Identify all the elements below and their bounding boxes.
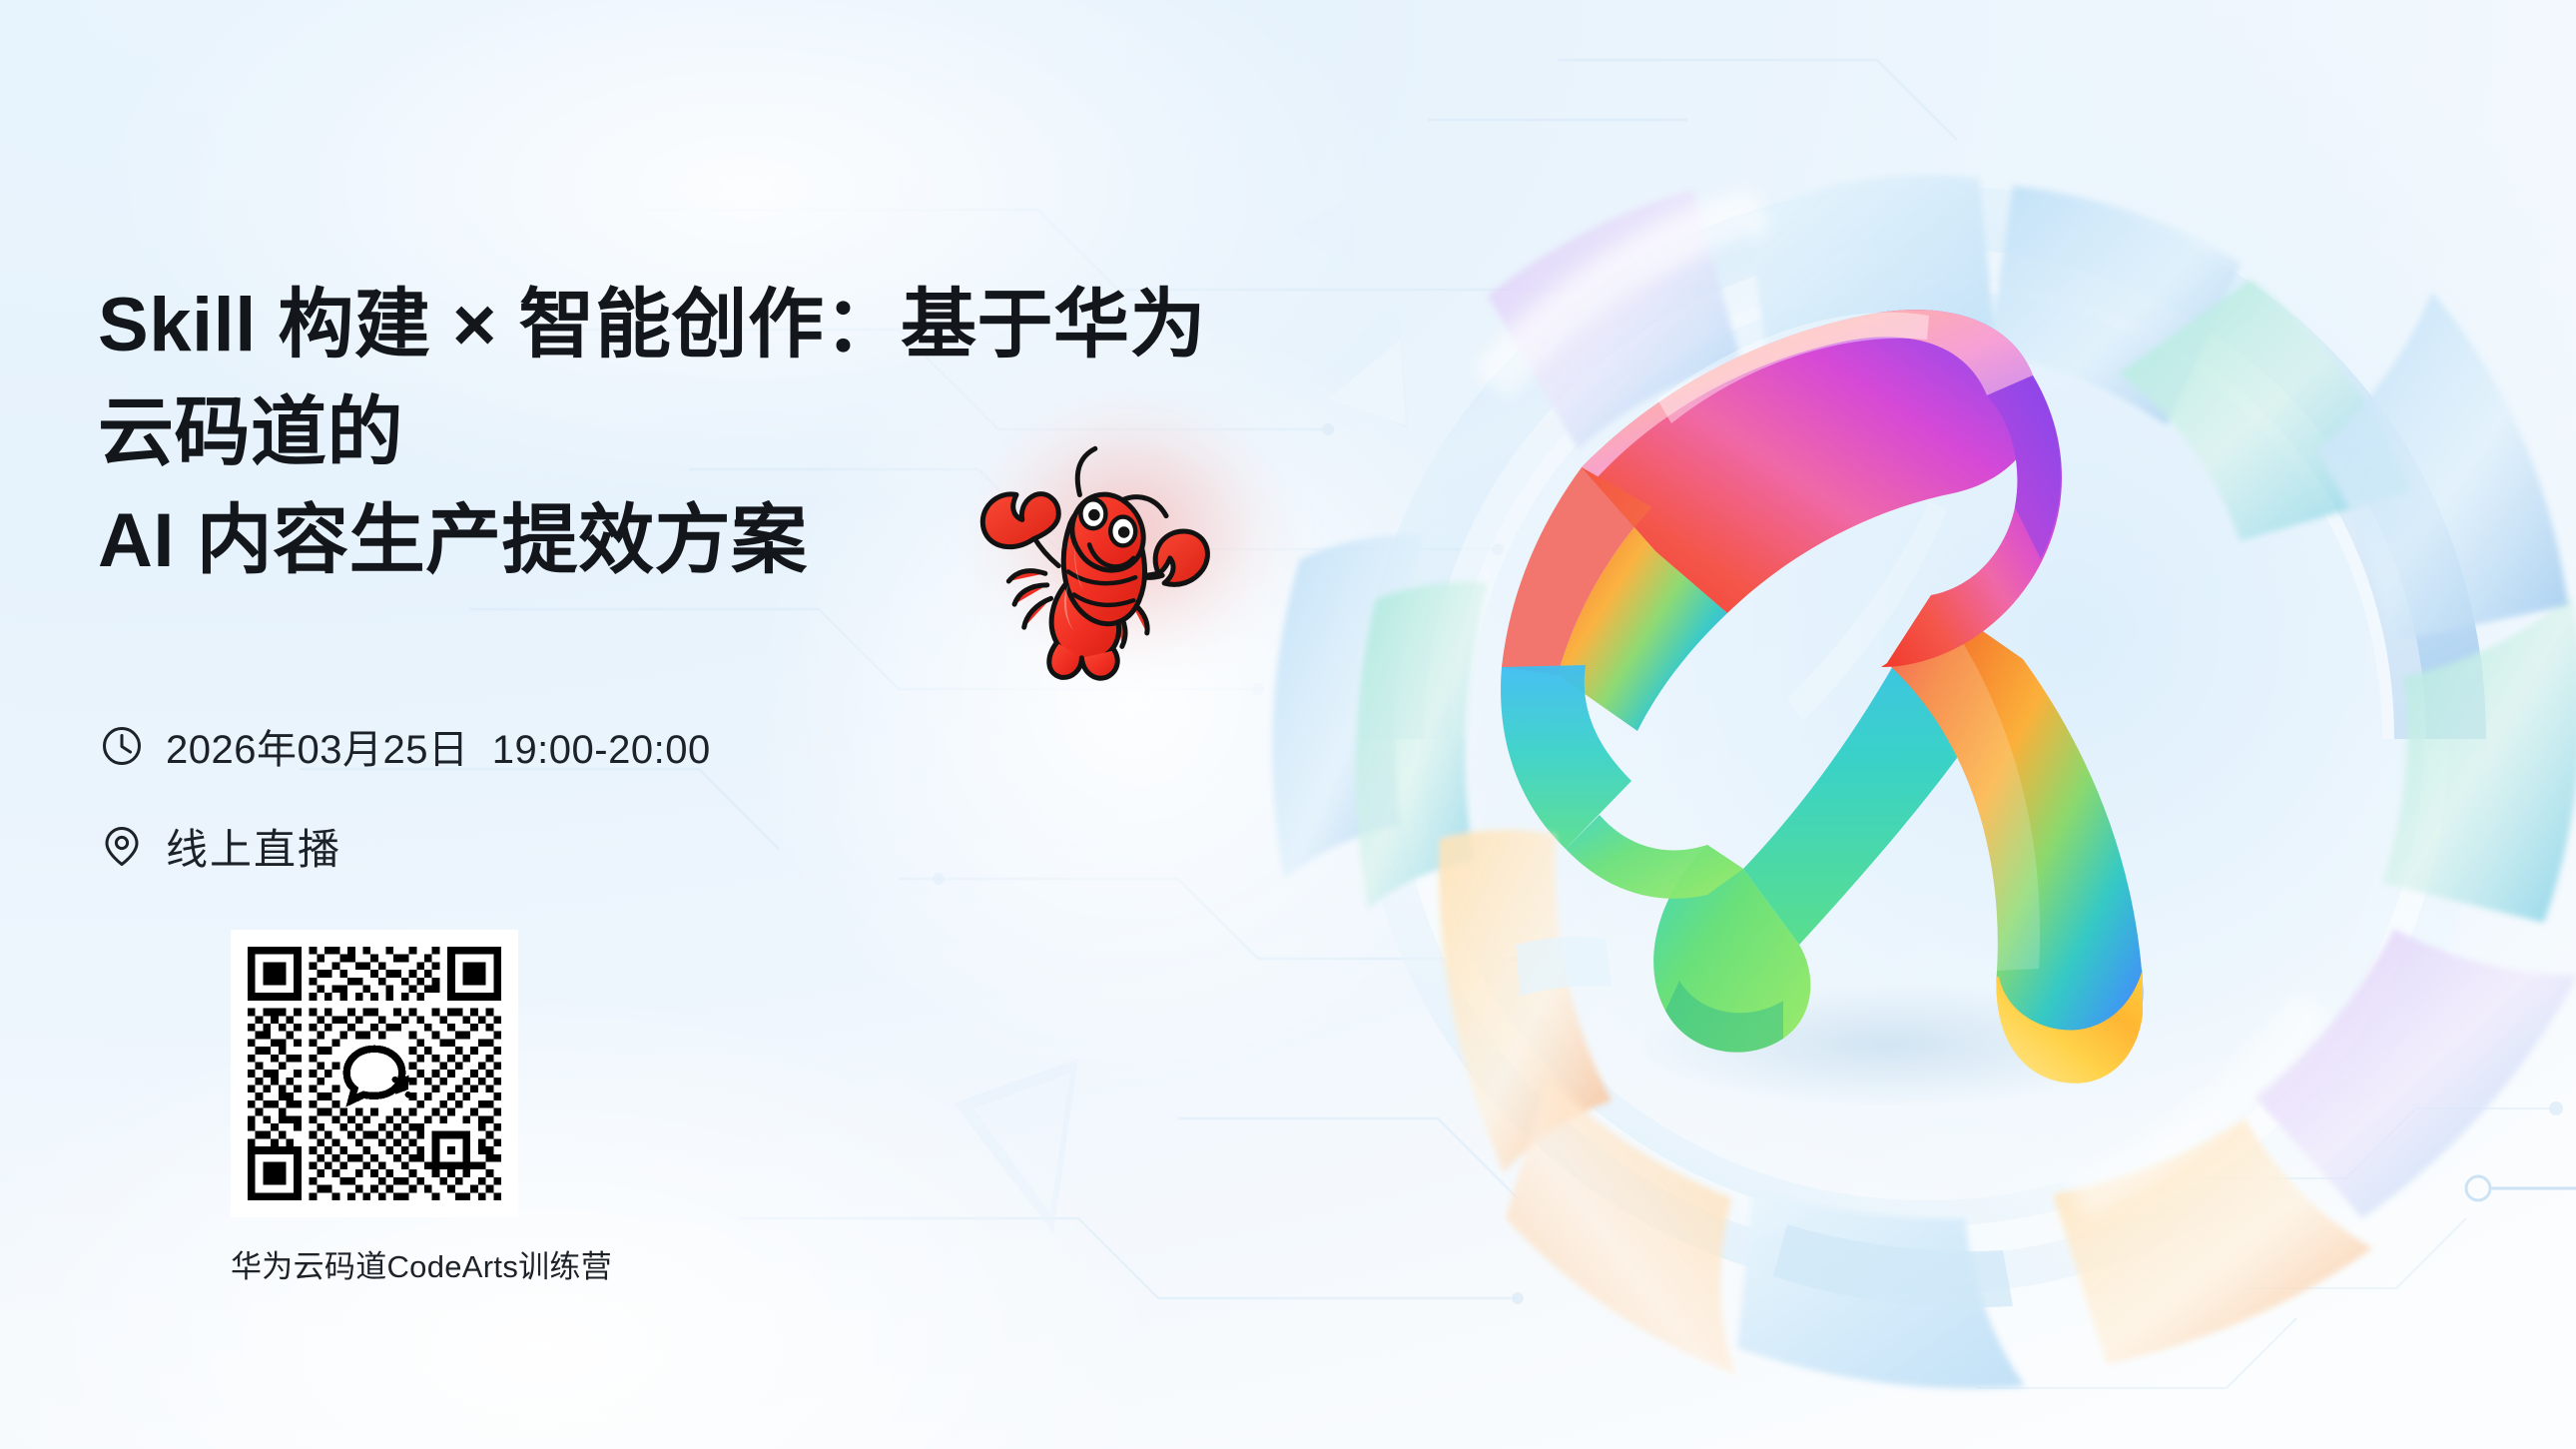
event-meta: 2026年03月25日 19:00-20:00 线上直播 <box>100 713 711 879</box>
event-datetime-label: 2026年03月25日 19:00-20:00 <box>166 717 711 775</box>
clock-icon <box>100 724 144 768</box>
poster-content: Skill 构建 × 智能创作：基于华为云码道的 AI 内容生产提效方案 202… <box>0 0 1298 1449</box>
location-pin-icon <box>100 824 144 868</box>
ring-nodes <box>2466 1176 2576 1200</box>
codearts-3d-ribbon-logo <box>1188 40 2576 1438</box>
event-location-label: 线上直播 <box>166 816 341 877</box>
qr-caption: 华为云码道CodeArts训练营 <box>231 1241 518 1286</box>
event-location-row: 线上直播 <box>100 813 711 879</box>
event-datetime-row: 2026年03月25日 19:00-20:00 <box>100 713 711 779</box>
page-title: Skill 构建 × 智能创作：基于华为云码道的 AI 内容生产提效方案 <box>98 272 1276 595</box>
qr-section: 华为云码道CodeArts训练营 <box>231 930 518 1286</box>
qr-code[interactable] <box>231 930 518 1217</box>
poster-canvas: Skill 构建 × 智能创作：基于华为云码道的 AI 内容生产提效方案 202… <box>0 0 2576 1449</box>
